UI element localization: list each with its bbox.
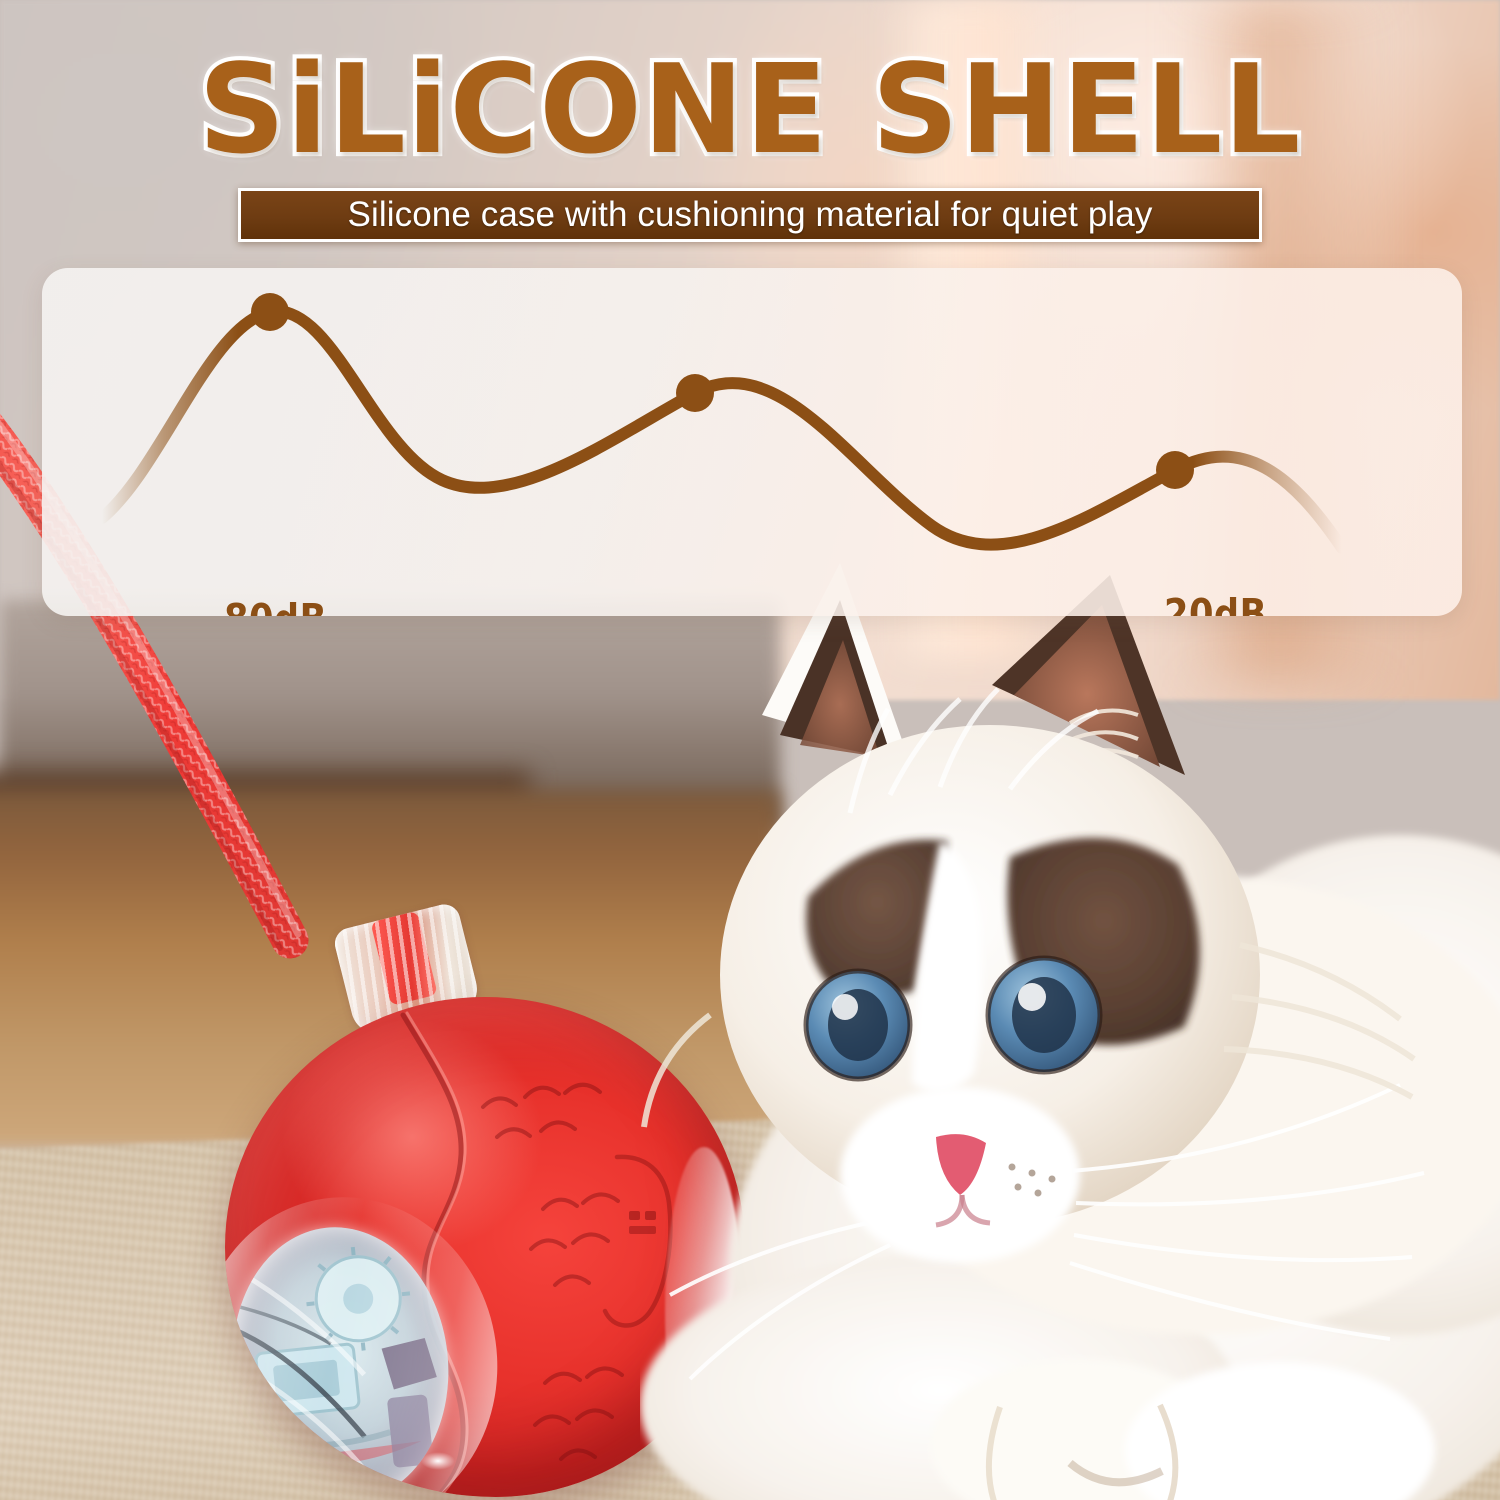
subtitle-bar: Silicone case with cushioning material f… <box>238 188 1262 242</box>
wave-point-toyball <box>676 374 714 412</box>
noise-comparison-panel: 80dB Hairdryer ≤50dB Toy ball 20dB Night <box>42 268 1462 616</box>
wave-db-hairdryer: 80dB <box>224 598 373 616</box>
ragdoll-cat <box>640 545 1500 1500</box>
noise-wave-chart <box>42 268 1462 616</box>
wave-point-hairdryer <box>251 293 289 331</box>
infographic-canvas: SiLiCONE SHELL Silicone case with cushio… <box>0 0 1500 1500</box>
subtitle-text: Silicone case with cushioning material f… <box>348 195 1153 235</box>
wave-point-night <box>1156 451 1194 489</box>
wave-label-night: 20dB Night <box>1164 593 1284 616</box>
window-highlight <box>421 1452 455 1470</box>
wave-db-night: 20dB <box>1164 593 1267 616</box>
page-title: SiLiCONE SHELL <box>0 48 1500 171</box>
wave-label-hairdryer: 80dB Hairdryer <box>224 598 397 616</box>
